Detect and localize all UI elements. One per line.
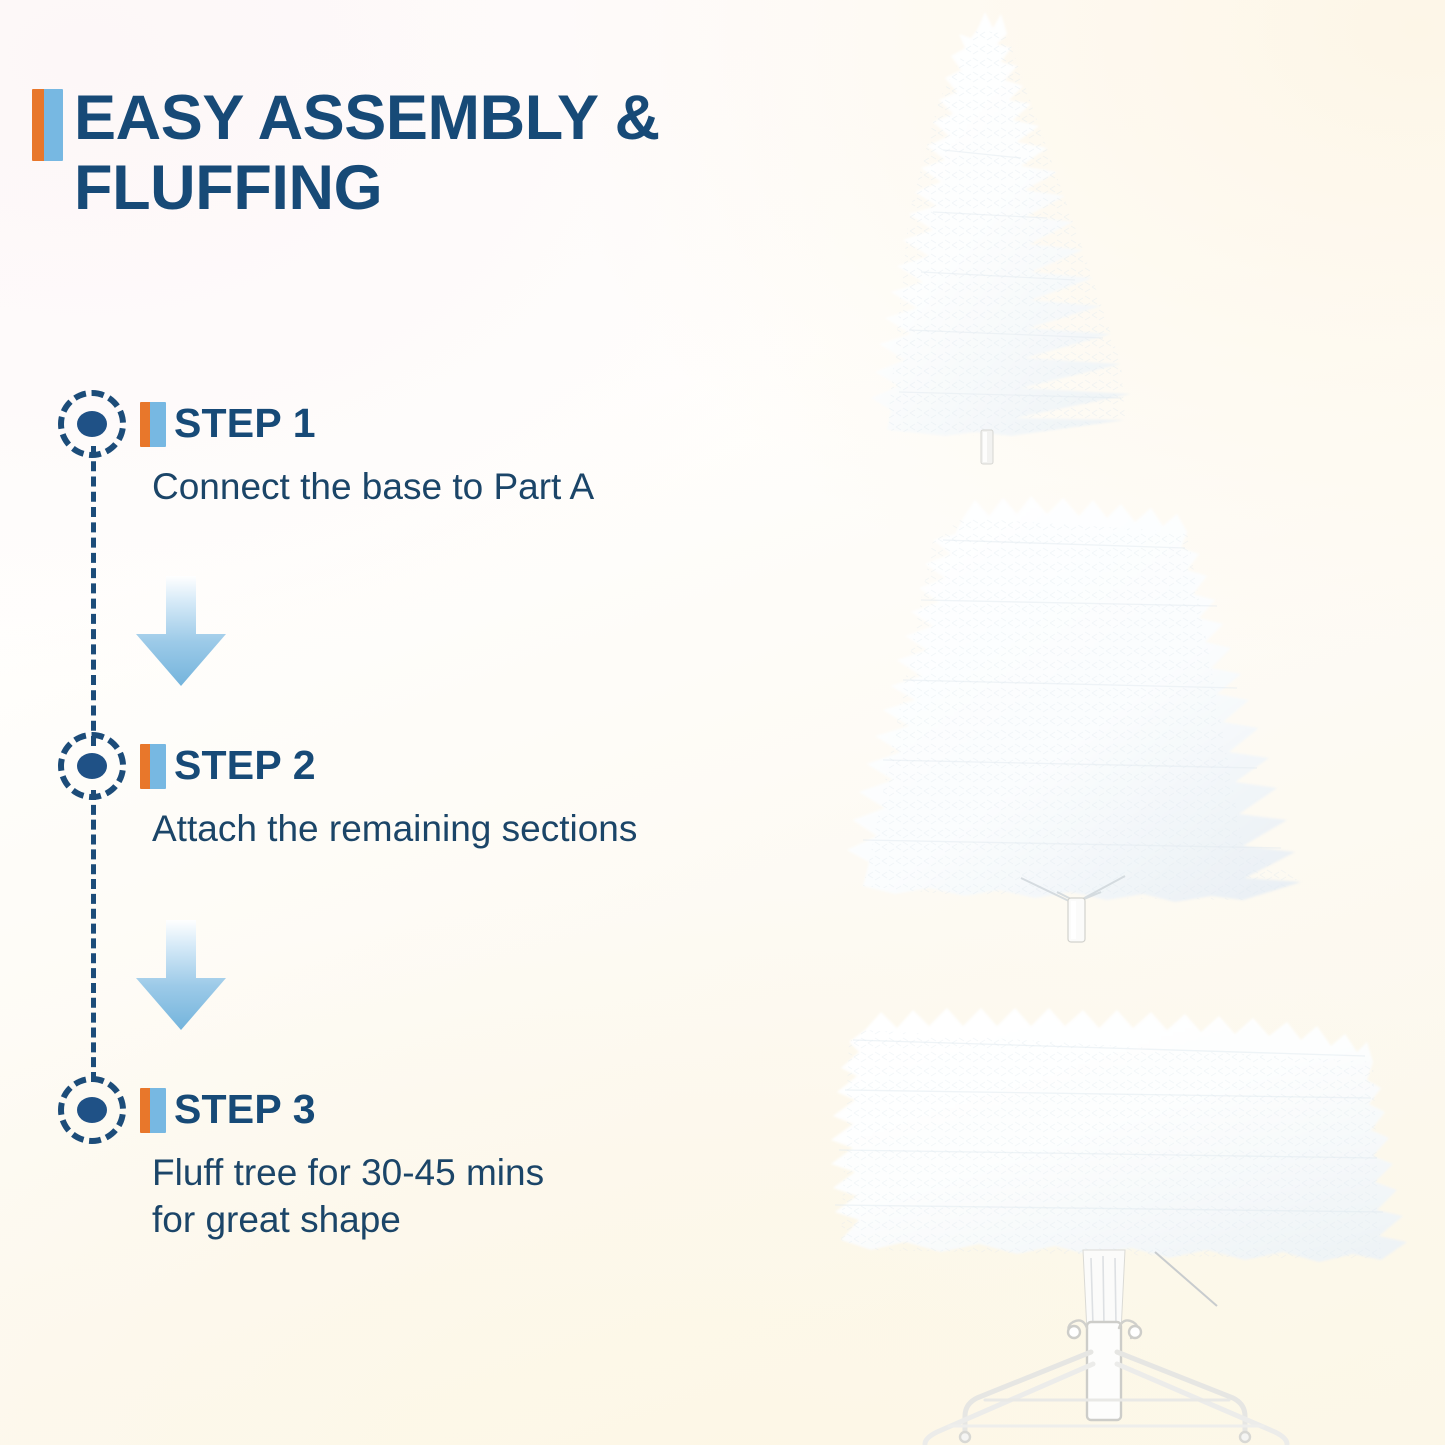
center-dot-icon [77,1097,107,1123]
step-block-2: STEP 2 Attach the remaining sections [140,740,637,853]
accent-stripe-orange [32,89,44,161]
step-header-2: STEP 2 [140,740,637,796]
product-image-tree-sections [825,0,1445,1445]
accent-stripe-blue [150,1088,166,1133]
page-title: EASY ASSEMBLY & FLUFFING [32,84,852,224]
step-accent-bar [140,1088,166,1133]
accent-stripe-blue [150,402,166,447]
folding-metal-tree-stand [925,1320,1287,1444]
title-accent-bar [32,89,63,161]
step-description-3: Fluff tree for 30-45 mins for great shap… [140,1140,544,1243]
accent-stripe-orange [140,1088,150,1133]
tree-middle-section [847,496,1301,942]
down-arrow-icon-2 [122,920,240,1032]
step-title-1: STEP 1 [140,398,594,448]
step-description-1: Connect the base to Part A [140,454,594,511]
accent-stripe-orange [140,402,150,447]
down-arrow-icon-1 [122,576,240,688]
accent-stripe-orange [140,744,150,789]
step-dot-marker-3 [58,1076,126,1144]
step-header-3: STEP 3 [140,1084,544,1140]
center-dot-icon [77,411,107,437]
step-accent-bar [140,402,166,447]
step-accent-bar [140,744,166,789]
step-title-2: STEP 2 [140,740,637,790]
accent-stripe-blue [150,744,166,789]
accent-stripe-blue [44,89,63,161]
step-timeline-rail [58,390,130,1130]
step-dot-marker-1 [58,390,126,458]
step-dot-marker-2 [58,732,126,800]
step-title-3: STEP 3 [140,1084,544,1134]
infographic-canvas: EASY ASSEMBLY & FLUFFING [0,0,1445,1445]
step-block-1: STEP 1 Connect the base to Part A [140,398,594,511]
step-block-3: STEP 3 Fluff tree for 30-45 mins for gre… [140,1084,544,1243]
step-description-2: Attach the remaining sections [140,796,637,853]
center-dot-icon [77,753,107,779]
tree-top-section [871,12,1131,464]
step-header-1: STEP 1 [140,398,594,454]
tree-bottom-section [831,1008,1407,1444]
page-title-block: EASY ASSEMBLY & FLUFFING [32,84,852,224]
rail-dashed-connector [91,446,96,746]
rail-dashed-connector [91,790,96,1082]
